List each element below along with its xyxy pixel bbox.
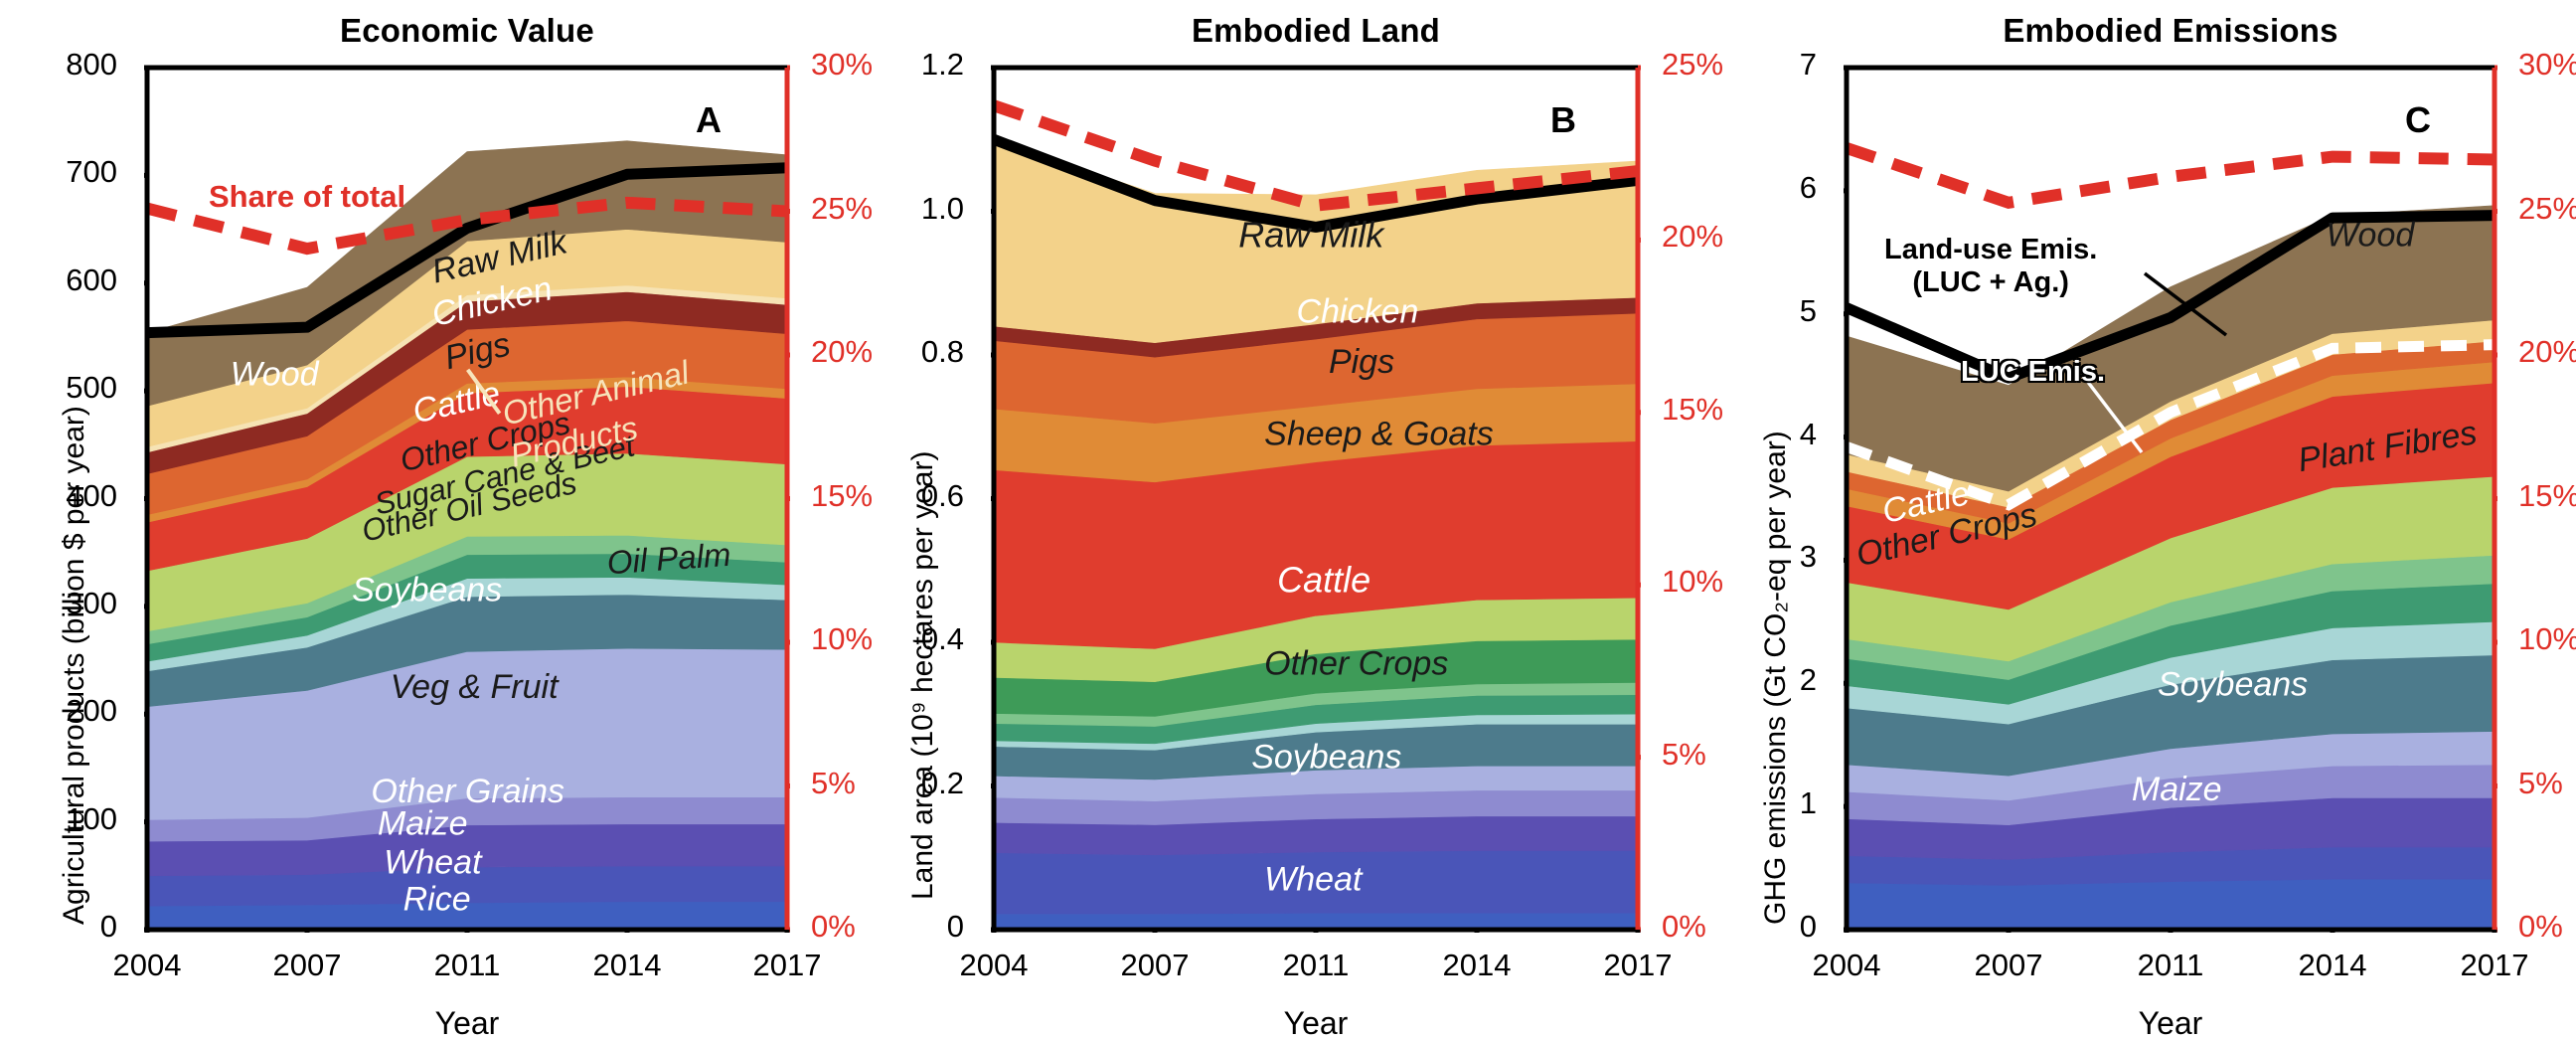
- y-tick-label: 7: [1658, 47, 1817, 83]
- luc-emissions-annotation: LUC Emis.: [1961, 356, 2105, 389]
- panel-title-embodied-emissions: Embodied Emissions: [1727, 12, 2576, 50]
- y-tick-label: 1: [1658, 785, 1817, 821]
- right-y-tick-label: 20%: [2518, 334, 2576, 370]
- right-y-tick-label: 5%: [2518, 766, 2563, 801]
- share-of-total-line-embodied-emissions: [1847, 148, 2495, 203]
- x-tick-label: 2014: [2253, 948, 2412, 983]
- panel-embodied-emissions: Embodied EmissionsGHG emissions (Gt CO₂-…: [0, 0, 2576, 1038]
- series-label-soybeans: Soybeans: [2158, 666, 2308, 704]
- y-tick-label: 4: [1658, 417, 1817, 452]
- y-tick-label: 2: [1658, 662, 1817, 698]
- panel-letter-c: C: [2405, 99, 2431, 141]
- x-tick-label: 2007: [1929, 948, 2088, 983]
- right-y-tick-label: 10%: [2518, 621, 2576, 657]
- series-label-wood: Wood: [2326, 217, 2415, 255]
- series-label-maize: Maize: [2132, 771, 2222, 808]
- right-y-tick-label: 30%: [2518, 47, 2576, 83]
- plot-area-embodied-emissions: WoodPlant FibresCattleOther CropsSoybean…: [1844, 65, 2497, 933]
- land-use-emissions-annotation: Land-use Emis.(LUC + Ag.): [1884, 234, 2097, 300]
- right-y-tick-label: 25%: [2518, 191, 2576, 227]
- x-axis-label-embodied-emissions: Year: [1767, 1005, 2574, 1042]
- area-rice: [1847, 879, 2495, 930]
- right-y-tick-label: 0%: [2518, 909, 2563, 945]
- x-tick-label: 2017: [2415, 948, 2574, 983]
- land-use-emissions-line2: (LUC + Ag.): [1884, 266, 2097, 299]
- figure-root: Economic ValueAgricultural products (bil…: [0, 0, 2576, 1038]
- land-use-emissions-line1: Land-use Emis.: [1884, 234, 2097, 266]
- y-tick-label: 5: [1658, 293, 1817, 329]
- y-tick-label: 3: [1658, 539, 1817, 575]
- y-tick-label: 0: [1658, 909, 1817, 945]
- right-y-tick-label: 15%: [2518, 478, 2576, 514]
- y-tick-label: 6: [1658, 170, 1817, 206]
- x-tick-label: 2004: [1767, 948, 1926, 983]
- x-tick-label: 2011: [2091, 948, 2250, 983]
